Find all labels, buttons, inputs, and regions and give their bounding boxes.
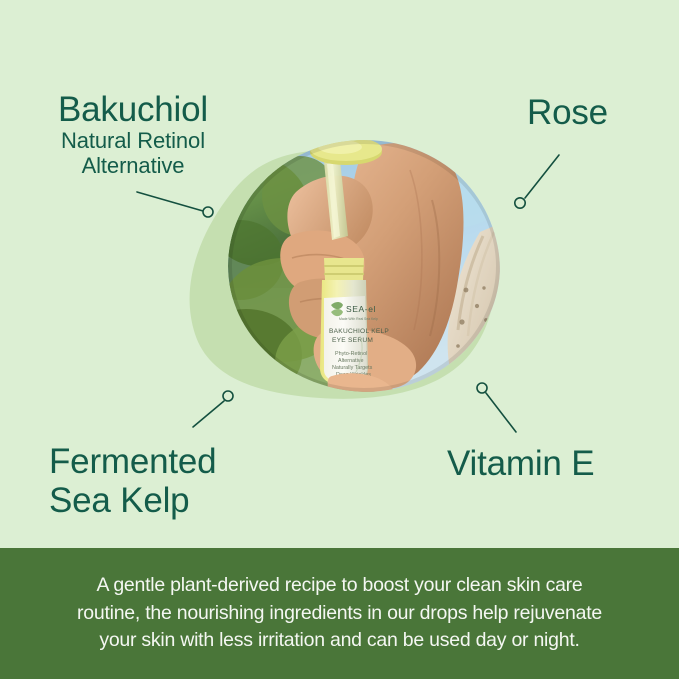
callout-bakuchiol: Bakuchiol Natural Retinol Alternative (58, 90, 208, 178)
leader-line-rose (525, 155, 559, 198)
svg-text:SEA-el: SEA-el (346, 304, 376, 314)
description-text: A gentle plant-derived recipe to boost y… (61, 572, 618, 655)
callout-vitamin-e-title: Vitamin E (447, 444, 594, 483)
ingredient-infographic: SEA-el Made With Real Sea Kelp BAKUCHIOL… (0, 0, 679, 679)
svg-text:Made With Real Sea Kelp: Made With Real Sea Kelp (339, 317, 378, 321)
product-photo: SEA-el Made With Real Sea Kelp BAKUCHIOL… (228, 140, 500, 392)
svg-text:Naturally Targets: Naturally Targets (332, 365, 373, 371)
callout-kelp-title-line1: Fermented (49, 442, 216, 481)
callout-rose: Rose (527, 93, 608, 132)
callout-vitamin-e: Vitamin E (447, 444, 594, 483)
callout-kelp-title-line2: Sea Kelp (49, 481, 216, 520)
callout-bakuchiol-subtitle-line2: Alternative (58, 154, 208, 179)
leader-line-kelp (193, 401, 224, 427)
leader-dot-rose (515, 198, 525, 208)
description-banner: A gentle plant-derived recipe to boost y… (0, 548, 679, 679)
svg-text:EYE SERUM: EYE SERUM (332, 337, 373, 344)
callout-fermented-sea-kelp: Fermented Sea Kelp (49, 442, 216, 520)
callout-bakuchiol-subtitle-line1: Natural Retinol (58, 129, 208, 154)
callout-bakuchiol-title: Bakuchiol (58, 90, 208, 129)
callout-rose-title: Rose (527, 93, 608, 132)
svg-text:Phyto-Retinol: Phyto-Retinol (335, 351, 367, 357)
svg-text:BAKUCHIOL KELP: BAKUCHIOL KELP (329, 328, 389, 335)
